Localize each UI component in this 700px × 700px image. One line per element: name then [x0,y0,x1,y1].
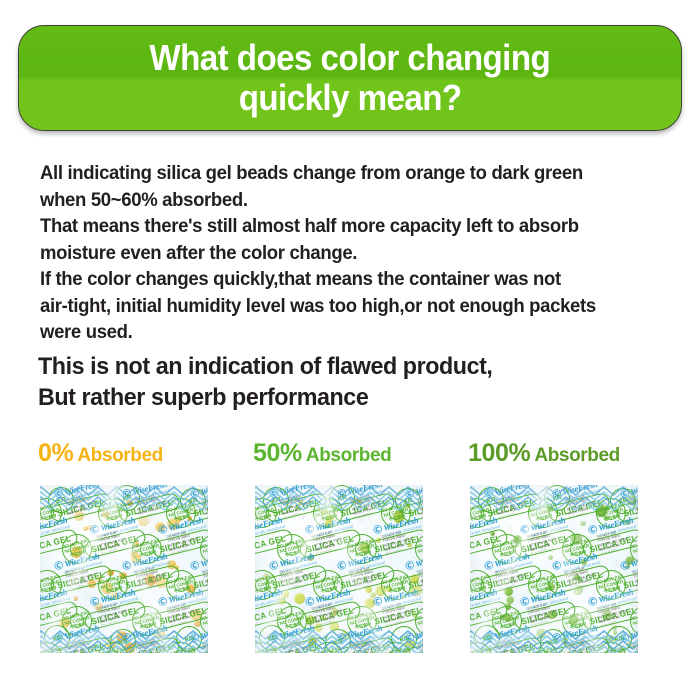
header-title-line-2: quickly mean? [239,78,462,118]
stage-50-percent: 50% Absorbed Ⓒ WiseFreshSILICA GEL DESIC… [253,436,425,470]
body-line: air-tight, initial humidity level was to… [40,293,639,320]
body-line: That means thereʹs still almost half mor… [40,213,639,240]
body-paragraph: All indicating silica gel beads change f… [40,160,670,346]
stage-label: 50% Absorbed [253,436,425,470]
stage-percent: 0% [38,439,73,467]
infographic-page: What does color changing quickly mean? A… [0,0,700,700]
body-line: were used. [40,319,639,346]
stage-0-percent: 0% Absorbed Ⓒ WiseFreshSILICA GEL DESICC… [38,436,210,470]
body-line: when 50~60% absorbed. [40,187,639,214]
stage-percent: 50% [253,439,302,467]
stage-label: 0% Absorbed [38,436,210,470]
body-line: If the color changes quickly,that means … [40,266,639,293]
stage-word: Absorbed [534,445,619,466]
stage-word: Absorbed [306,445,391,466]
statement-line: This is not an indication of flawed prod… [38,351,646,382]
absorption-stages: 0% Absorbed Ⓒ WiseFreshSILICA GEL DESICC… [0,436,700,661]
silica-packet-image-0: Ⓒ WiseFreshSILICA GEL DESICCANTⒸ WiseFre… [40,485,208,653]
header-banner: What does color changing quickly mean? [18,25,682,131]
statement-line: But rather superb performance [38,382,646,413]
stage-100-percent: 100% Absorbed Ⓒ WiseFreshSILICA GEL DESI… [468,436,640,470]
body-line: moisture even after the color change. [40,240,639,267]
stage-percent: 100% [468,439,530,467]
emphasis-statement: This is not an indication of flawed prod… [38,351,678,413]
stage-word: Absorbed [77,445,162,466]
silica-packet-image-1: Ⓒ WiseFreshSILICA GEL DESICCANTⒸ WiseFre… [255,485,423,653]
header-title-line-1: What does color changing [150,38,551,78]
body-line: All indicating silica gel beads change f… [40,160,639,187]
silica-packet-image-2: Ⓒ WiseFreshSILICA GEL DESICCANTⒸ WiseFre… [470,485,638,653]
stage-label: 100% Absorbed [468,436,640,470]
